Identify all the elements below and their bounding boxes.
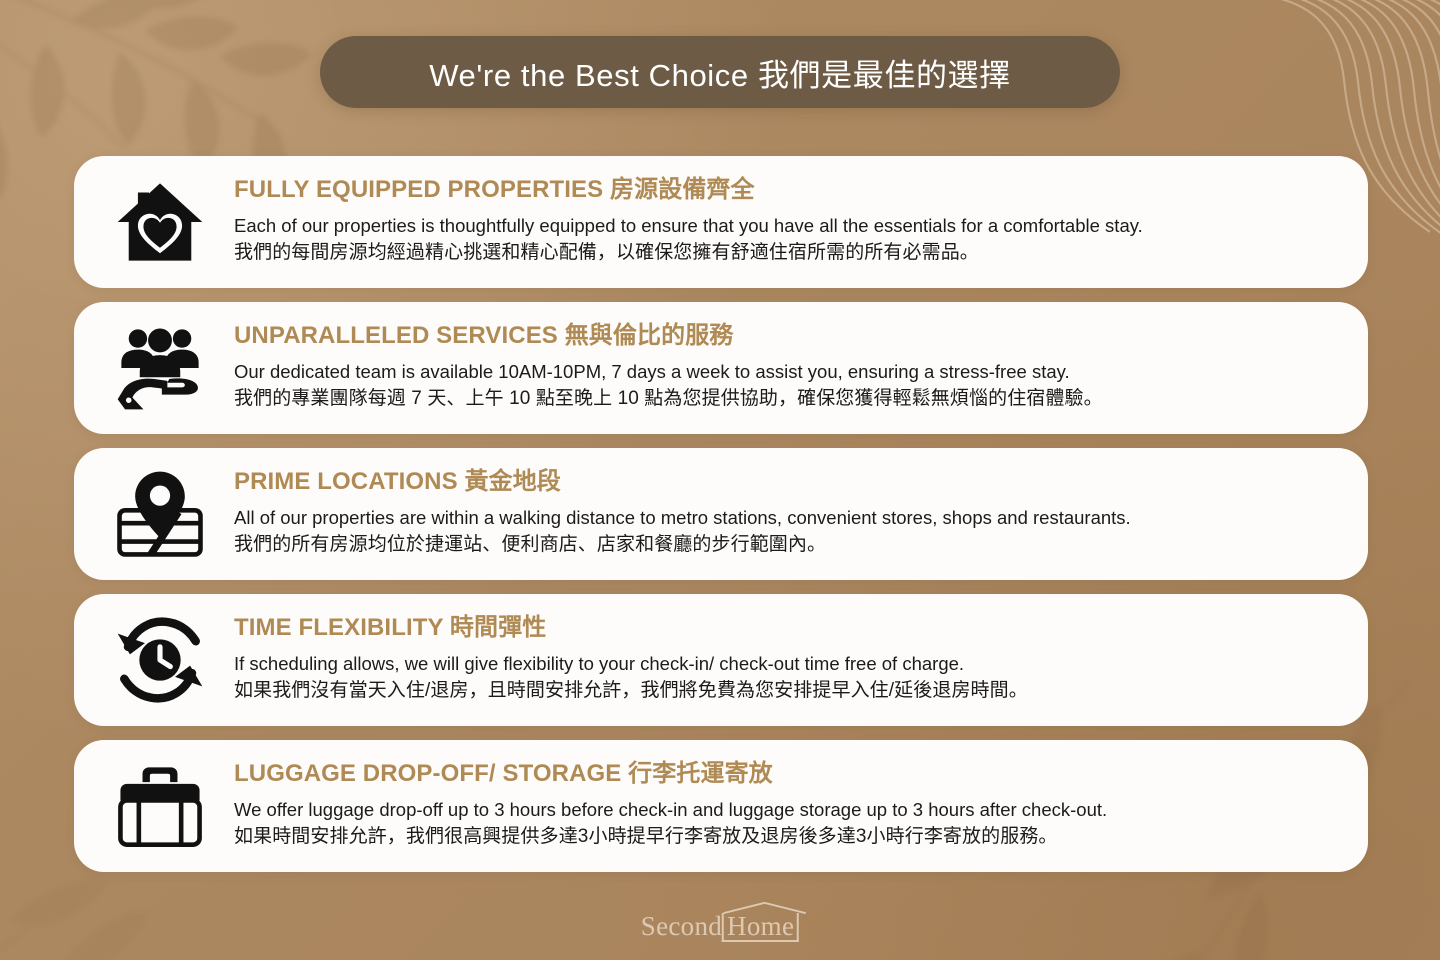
feature-card-text-en: Our dedicated team is available 10AM-10P… [234, 358, 1342, 386]
feature-card-body: FULLY EQUIPPED PROPERTIES 房源設備齊全 Each of… [216, 176, 1342, 268]
feature-card: FULLY EQUIPPED PROPERTIES 房源設備齊全 Each of… [74, 156, 1368, 288]
feature-card-body: PRIME LOCATIONS 黃金地段 All of our properti… [216, 468, 1342, 560]
feature-card-text-zh: 如果我們沒有當天入住/退房，且時間安排允許，我們將免費為您安排提早入住/延後退房… [234, 677, 1342, 706]
house-frame-base [722, 940, 799, 942]
house-frame-left [722, 913, 724, 942]
feature-card-title: LUGGAGE DROP-OFF/ STORAGE 行李托運寄放 [234, 760, 1342, 788]
clock-refresh-icon [104, 610, 216, 710]
feature-card: UNPARALLELED SERVICES 無與倫比的服務 Our dedica… [74, 302, 1368, 434]
feature-card-title: TIME FLEXIBILITY 時間彈性 [234, 614, 1342, 642]
feature-card: LUGGAGE DROP-OFF/ STORAGE 行李托運寄放 We offe… [74, 740, 1368, 872]
feature-card-text-en: If scheduling allows, we will give flexi… [234, 650, 1342, 678]
feature-card-text-en: Each of our properties is thoughtfully e… [234, 212, 1342, 240]
brand-logo-first: Second [641, 911, 722, 942]
page-title: We're the Best Choice 我們是最佳的選擇 [429, 50, 1011, 95]
feature-card-title: FULLY EQUIPPED PROPERTIES 房源設備齊全 [234, 176, 1342, 204]
feature-card-title: UNPARALLELED SERVICES 無與倫比的服務 [234, 322, 1342, 350]
feature-card: PRIME LOCATIONS 黃金地段 All of our properti… [74, 448, 1368, 580]
brand-logo: Second Home [641, 911, 799, 942]
feature-card-text-zh: 我們的每間房源均經過精心挑選和精心配備，以確保您擁有舒適住宿所需的所有必需品。 [234, 239, 1342, 268]
feature-card-body: LUGGAGE DROP-OFF/ STORAGE 行李托運寄放 We offe… [216, 760, 1342, 852]
feature-card-text-zh: 如果時間安排允許，我們很高興提供多達3小時提早行李寄放及退房後多達3小時行李寄放… [234, 823, 1342, 852]
map-pin-icon [104, 464, 216, 564]
feature-card-list: FULLY EQUIPPED PROPERTIES 房源設備齊全 Each of… [74, 156, 1368, 872]
feature-card: TIME FLEXIBILITY 時間彈性 If scheduling allo… [74, 594, 1368, 726]
feature-card-body: UNPARALLELED SERVICES 無與倫比的服務 Our dedica… [216, 322, 1342, 414]
house-heart-icon [104, 172, 216, 272]
brand-logo-house-frame: Home [722, 911, 799, 942]
house-frame-right [797, 913, 799, 942]
feature-card-text-en: All of our properties are within a walki… [234, 504, 1342, 532]
brand-logo-second: Home [727, 911, 794, 941]
feature-card-title: PRIME LOCATIONS 黃金地段 [234, 468, 1342, 496]
feature-card-body: TIME FLEXIBILITY 時間彈性 If scheduling allo… [216, 614, 1342, 706]
feature-card-text-zh: 我們的專業團隊每週 7 天、上午 10 點至晚上 10 點為您提供協助，確保您獲… [234, 385, 1342, 414]
feature-card-text-en: We offer luggage drop-off up to 3 hours … [234, 796, 1342, 824]
feature-card-text-zh: 我們的所有房源均位於捷運站、便利商店、店家和餐廳的步行範圍內。 [234, 531, 1342, 560]
roof-icon [722, 902, 808, 914]
people-hand-icon [104, 318, 216, 418]
page-header-pill: We're the Best Choice 我們是最佳的選擇 [320, 36, 1120, 108]
suitcase-icon [104, 756, 216, 856]
footer-logo: Second Home [641, 911, 799, 942]
